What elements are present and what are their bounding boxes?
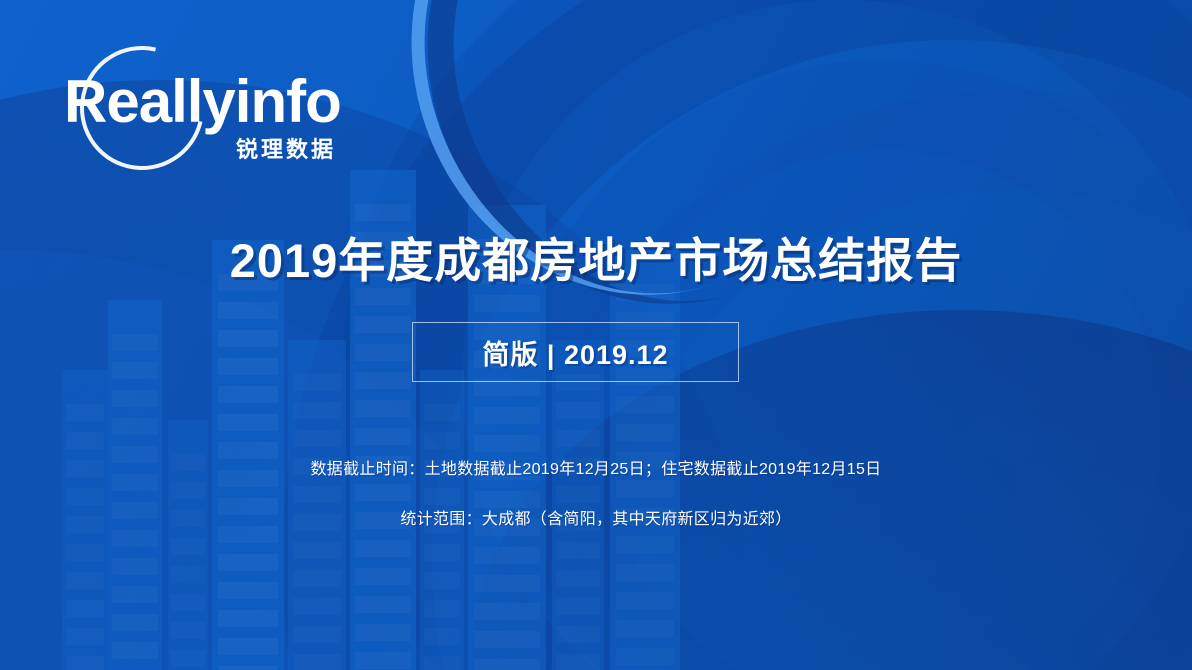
company-logo: Reallyinfo 锐理数据 [58,44,388,174]
version-badge-label: 简版 | 2019.12 [482,333,668,372]
logo-wordmark: Reallyinfo [64,72,341,132]
footnote-data-cutoff: 数据截止时间：土地数据截止2019年12月25日；住宅数据截止2019年12月1… [0,455,1192,479]
page-title: 2019年度成都房地产市场总结报告 [0,222,1192,291]
footnotes: 数据截止时间：土地数据截止2019年12月25日；住宅数据截止2019年12月1… [0,455,1192,529]
logo-brand-info: info [235,68,341,135]
version-badge: 简版 | 2019.12 [412,322,739,382]
title-slide: Reallyinfo 锐理数据 2019年度成都房地产市场总结报告 简版 | 2… [0,0,1192,670]
footnote-statistical-scope: 统计范围：大成都（含简阳，其中天府新区归为近郊） [0,505,1192,529]
logo-chinese-name: 锐理数据 [236,132,336,164]
logo-brand-really: Really [64,68,235,135]
